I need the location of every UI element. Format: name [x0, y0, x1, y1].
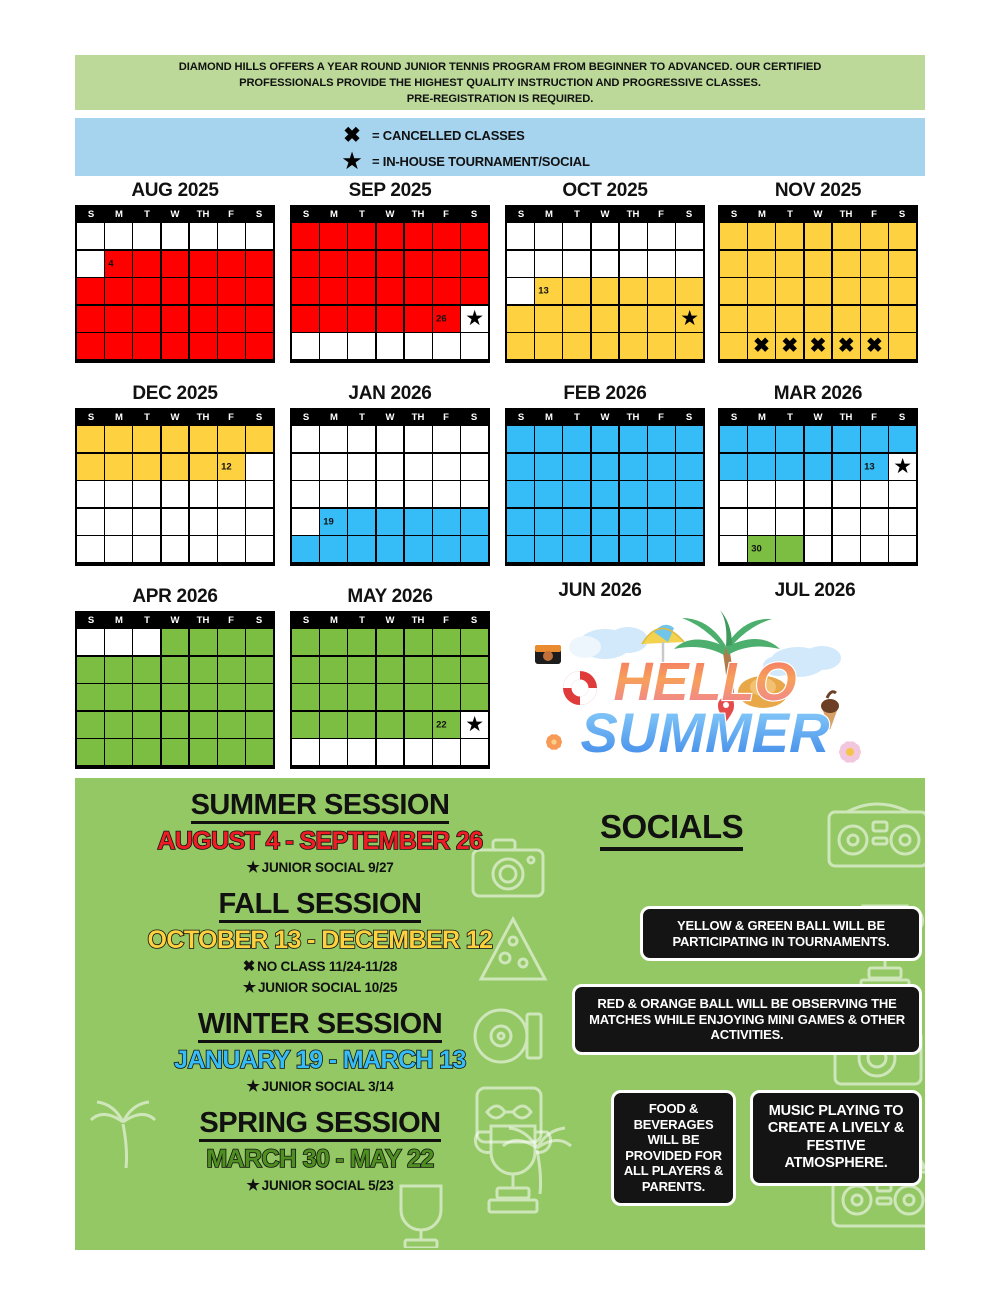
calendar-day-cell[interactable] — [507, 278, 534, 304]
calendar-day-cell[interactable] — [535, 536, 562, 562]
calendar-day-cell[interactable] — [461, 426, 488, 452]
calendar-day-cell[interactable] — [377, 481, 404, 507]
calendar-day-cell[interactable] — [292, 536, 319, 562]
calendar-day-cell[interactable] — [77, 684, 104, 710]
calendar-day-cell[interactable] — [720, 426, 747, 452]
calendar-day-cell[interactable] — [162, 454, 189, 480]
calendar-day-cell[interactable] — [833, 454, 860, 480]
calendar-day-cell[interactable] — [246, 333, 273, 359]
calendar-day-cell[interactable] — [861, 481, 888, 507]
calendar-day-cell[interactable]: 22 — [433, 712, 460, 738]
calendar-day-cell[interactable] — [320, 657, 347, 683]
calendar-day-cell[interactable] — [133, 739, 160, 765]
calendar-day-cell[interactable] — [833, 251, 860, 277]
calendar-day-cell[interactable] — [77, 223, 104, 249]
calendar-day-cell[interactable] — [433, 481, 460, 507]
calendar-day-cell[interactable] — [162, 481, 189, 507]
calendar-day-cell[interactable] — [292, 251, 319, 277]
calendar-day-cell[interactable] — [190, 712, 217, 738]
calendar-day-cell[interactable]: ★ — [676, 306, 703, 332]
calendar-day-cell[interactable] — [105, 426, 132, 452]
calendar-day-cell[interactable] — [861, 509, 888, 535]
calendar-day-cell[interactable] — [133, 712, 160, 738]
calendar-day-cell[interactable] — [105, 712, 132, 738]
calendar-day-cell[interactable] — [218, 739, 245, 765]
calendar-day-cell[interactable] — [720, 333, 747, 359]
calendar-day-cell[interactable] — [405, 481, 432, 507]
calendar-day-cell[interactable] — [218, 223, 245, 249]
calendar-day-cell[interactable] — [861, 278, 888, 304]
calendar-day-cell[interactable]: 19 — [320, 509, 347, 535]
calendar-day-cell[interactable] — [377, 278, 404, 304]
calendar-day-cell[interactable] — [292, 306, 319, 332]
calendar-day-cell[interactable] — [246, 712, 273, 738]
calendar-day-cell[interactable] — [133, 223, 160, 249]
calendar-day-cell[interactable] — [348, 712, 375, 738]
calendar-day-cell[interactable] — [592, 306, 619, 332]
calendar-day-cell[interactable] — [676, 278, 703, 304]
calendar-day-cell[interactable] — [292, 454, 319, 480]
calendar-day-cell[interactable] — [190, 481, 217, 507]
calendar-day-cell[interactable] — [507, 509, 534, 535]
calendar-day-cell[interactable] — [348, 629, 375, 655]
calendar-day-cell[interactable]: ✖ — [805, 333, 832, 359]
calendar-day-cell[interactable] — [648, 333, 675, 359]
calendar-day-cell[interactable] — [320, 536, 347, 562]
calendar-day-cell[interactable] — [320, 684, 347, 710]
calendar-day-cell[interactable] — [348, 454, 375, 480]
calendar-day-cell[interactable] — [162, 509, 189, 535]
calendar-day-cell[interactable] — [190, 739, 217, 765]
calendar-day-cell[interactable] — [162, 223, 189, 249]
calendar-day-cell[interactable]: 13 — [861, 454, 888, 480]
calendar-day-cell[interactable] — [133, 333, 160, 359]
calendar-day-cell[interactable] — [77, 657, 104, 683]
calendar-day-cell[interactable] — [405, 454, 432, 480]
calendar-day-cell[interactable] — [833, 509, 860, 535]
calendar-day-cell[interactable] — [563, 223, 590, 249]
calendar-day-cell[interactable] — [105, 306, 132, 332]
calendar-day-cell[interactable] — [748, 251, 775, 277]
calendar-day-cell[interactable] — [377, 712, 404, 738]
calendar-day-cell[interactable]: 13 — [535, 278, 562, 304]
calendar-day-cell[interactable]: 26 — [433, 306, 460, 332]
calendar-day-cell[interactable] — [507, 333, 534, 359]
calendar-day-cell[interactable] — [105, 657, 132, 683]
calendar-day-cell[interactable] — [377, 657, 404, 683]
calendar-day-cell[interactable] — [833, 278, 860, 304]
calendar-day-cell[interactable] — [292, 657, 319, 683]
calendar-day-cell[interactable] — [377, 223, 404, 249]
calendar-day-cell[interactable] — [620, 333, 647, 359]
calendar-day-cell[interactable] — [563, 333, 590, 359]
calendar-day-cell[interactable] — [77, 306, 104, 332]
calendar-day-cell[interactable] — [648, 306, 675, 332]
calendar-day-cell[interactable] — [563, 536, 590, 562]
calendar-day-cell[interactable] — [292, 509, 319, 535]
calendar-day-cell[interactable] — [833, 426, 860, 452]
calendar-day-cell[interactable] — [105, 223, 132, 249]
calendar-day-cell[interactable] — [190, 536, 217, 562]
calendar-day-cell[interactable]: ★ — [889, 454, 916, 480]
calendar-day-cell[interactable] — [246, 278, 273, 304]
calendar-day-cell[interactable] — [461, 536, 488, 562]
calendar-day-cell[interactable]: 12 — [218, 454, 245, 480]
calendar-day-cell[interactable] — [592, 278, 619, 304]
calendar-day-cell[interactable] — [433, 333, 460, 359]
calendar-day-cell[interactable] — [77, 426, 104, 452]
calendar-day-cell[interactable] — [77, 333, 104, 359]
calendar-day-cell[interactable] — [461, 629, 488, 655]
calendar-day-cell[interactable] — [246, 536, 273, 562]
calendar-day-cell[interactable] — [320, 333, 347, 359]
calendar-day-cell[interactable] — [292, 426, 319, 452]
calendar-day-cell[interactable] — [620, 454, 647, 480]
calendar-day-cell[interactable] — [776, 454, 803, 480]
calendar-day-cell[interactable] — [433, 278, 460, 304]
calendar-day-cell[interactable] — [461, 684, 488, 710]
calendar-day-cell[interactable] — [805, 306, 832, 332]
calendar-day-cell[interactable] — [648, 278, 675, 304]
calendar-day-cell[interactable] — [105, 684, 132, 710]
calendar-day-cell[interactable] — [77, 481, 104, 507]
calendar-day-cell[interactable] — [676, 426, 703, 452]
calendar-day-cell[interactable] — [405, 712, 432, 738]
calendar-day-cell[interactable] — [218, 333, 245, 359]
calendar-day-cell[interactable] — [648, 481, 675, 507]
calendar-day-cell[interactable] — [190, 223, 217, 249]
calendar-day-cell[interactable] — [320, 426, 347, 452]
calendar-day-cell[interactable] — [507, 426, 534, 452]
calendar-day-cell[interactable] — [861, 306, 888, 332]
calendar-day-cell[interactable] — [720, 481, 747, 507]
calendar-day-cell[interactable] — [348, 509, 375, 535]
calendar-day-cell[interactable] — [377, 454, 404, 480]
calendar-day-cell[interactable] — [162, 278, 189, 304]
calendar-day-cell[interactable] — [889, 333, 916, 359]
calendar-day-cell[interactable] — [648, 251, 675, 277]
calendar-day-cell[interactable] — [190, 509, 217, 535]
calendar-day-cell[interactable] — [648, 536, 675, 562]
calendar-day-cell[interactable] — [246, 426, 273, 452]
calendar-day-cell[interactable] — [748, 223, 775, 249]
calendar-day-cell[interactable] — [348, 426, 375, 452]
calendar-day-cell[interactable] — [805, 454, 832, 480]
calendar-day-cell[interactable] — [77, 712, 104, 738]
calendar-day-cell[interactable] — [246, 629, 273, 655]
calendar-day-cell[interactable] — [676, 509, 703, 535]
calendar-day-cell[interactable] — [563, 454, 590, 480]
calendar-day-cell[interactable] — [377, 509, 404, 535]
calendar-day-cell[interactable] — [563, 306, 590, 332]
calendar-day-cell[interactable] — [190, 657, 217, 683]
calendar-day-cell[interactable] — [620, 426, 647, 452]
calendar-day-cell[interactable] — [776, 278, 803, 304]
calendar-day-cell[interactable] — [190, 251, 217, 277]
calendar-day-cell[interactable] — [535, 251, 562, 277]
calendar-day-cell[interactable] — [162, 684, 189, 710]
calendar-day-cell[interactable] — [405, 739, 432, 765]
calendar-day-cell[interactable] — [246, 306, 273, 332]
calendar-day-cell[interactable] — [592, 333, 619, 359]
calendar-day-cell[interactable] — [648, 509, 675, 535]
calendar-day-cell[interactable] — [246, 739, 273, 765]
calendar-day-cell[interactable] — [720, 223, 747, 249]
calendar-day-cell[interactable] — [535, 333, 562, 359]
calendar-day-cell[interactable] — [77, 251, 104, 277]
calendar-day-cell[interactable] — [320, 629, 347, 655]
calendar-day-cell[interactable] — [133, 536, 160, 562]
calendar-day-cell[interactable]: ✖ — [861, 333, 888, 359]
calendar-day-cell[interactable] — [720, 278, 747, 304]
calendar-day-cell[interactable] — [246, 481, 273, 507]
calendar-day-cell[interactable] — [218, 712, 245, 738]
calendar-day-cell[interactable] — [592, 251, 619, 277]
calendar-day-cell[interactable] — [77, 739, 104, 765]
calendar-day-cell[interactable] — [348, 333, 375, 359]
calendar-day-cell[interactable] — [805, 426, 832, 452]
calendar-day-cell[interactable] — [620, 223, 647, 249]
calendar-day-cell[interactable] — [592, 223, 619, 249]
calendar-day-cell[interactable] — [748, 454, 775, 480]
calendar-day-cell[interactable] — [246, 251, 273, 277]
calendar-day-cell[interactable] — [246, 223, 273, 249]
calendar-day-cell[interactable] — [433, 657, 460, 683]
calendar-day-cell[interactable] — [218, 684, 245, 710]
calendar-day-cell[interactable]: ★ — [461, 306, 488, 332]
calendar-day-cell[interactable] — [190, 454, 217, 480]
calendar-day-cell[interactable] — [162, 251, 189, 277]
calendar-day-cell[interactable] — [133, 278, 160, 304]
calendar-day-cell[interactable] — [861, 536, 888, 562]
calendar-day-cell[interactable] — [535, 509, 562, 535]
calendar-day-cell[interactable] — [461, 509, 488, 535]
calendar-day-cell[interactable] — [133, 306, 160, 332]
calendar-day-cell[interactable] — [748, 426, 775, 452]
calendar-day-cell[interactable] — [748, 481, 775, 507]
calendar-day-cell[interactable] — [405, 657, 432, 683]
calendar-day-cell[interactable] — [592, 454, 619, 480]
calendar-day-cell[interactable] — [507, 536, 534, 562]
calendar-day-cell[interactable] — [348, 278, 375, 304]
calendar-day-cell[interactable] — [805, 223, 832, 249]
calendar-day-cell[interactable] — [805, 536, 832, 562]
calendar-day-cell[interactable] — [162, 739, 189, 765]
calendar-day-cell[interactable] — [292, 333, 319, 359]
calendar-day-cell[interactable] — [377, 536, 404, 562]
calendar-day-cell[interactable] — [162, 536, 189, 562]
calendar-day-cell[interactable] — [461, 454, 488, 480]
calendar-day-cell[interactable] — [405, 629, 432, 655]
calendar-day-cell[interactable] — [77, 536, 104, 562]
calendar-day-cell[interactable] — [748, 278, 775, 304]
calendar-day-cell[interactable] — [377, 306, 404, 332]
calendar-day-cell[interactable] — [433, 426, 460, 452]
calendar-day-cell[interactable] — [433, 684, 460, 710]
calendar-day-cell[interactable] — [348, 251, 375, 277]
calendar-day-cell[interactable] — [377, 684, 404, 710]
calendar-day-cell[interactable] — [507, 223, 534, 249]
calendar-day-cell[interactable] — [77, 629, 104, 655]
calendar-day-cell[interactable] — [461, 278, 488, 304]
calendar-day-cell[interactable] — [592, 426, 619, 452]
calendar-day-cell[interactable] — [461, 223, 488, 249]
calendar-day-cell[interactable] — [620, 251, 647, 277]
calendar-day-cell[interactable] — [776, 306, 803, 332]
calendar-day-cell[interactable]: ★ — [461, 712, 488, 738]
calendar-day-cell[interactable] — [348, 657, 375, 683]
calendar-day-cell[interactable] — [861, 251, 888, 277]
calendar-day-cell[interactable] — [620, 509, 647, 535]
calendar-day-cell[interactable] — [377, 251, 404, 277]
calendar-day-cell[interactable] — [405, 509, 432, 535]
calendar-day-cell[interactable] — [292, 223, 319, 249]
calendar-day-cell[interactable] — [720, 251, 747, 277]
calendar-day-cell[interactable] — [620, 306, 647, 332]
calendar-day-cell[interactable] — [648, 426, 675, 452]
calendar-day-cell[interactable] — [889, 251, 916, 277]
calendar-day-cell[interactable] — [507, 306, 534, 332]
calendar-day-cell[interactable] — [162, 629, 189, 655]
calendar-day-cell[interactable] — [133, 509, 160, 535]
calendar-day-cell[interactable] — [620, 536, 647, 562]
calendar-day-cell[interactable] — [433, 223, 460, 249]
calendar-day-cell[interactable] — [133, 629, 160, 655]
calendar-day-cell[interactable] — [162, 657, 189, 683]
calendar-day-cell[interactable] — [320, 739, 347, 765]
calendar-day-cell[interactable] — [507, 251, 534, 277]
calendar-day-cell[interactable] — [377, 333, 404, 359]
calendar-day-cell[interactable] — [833, 536, 860, 562]
calendar-day-cell[interactable] — [889, 223, 916, 249]
calendar-day-cell[interactable] — [348, 536, 375, 562]
calendar-day-cell[interactable] — [377, 739, 404, 765]
calendar-day-cell[interactable] — [218, 629, 245, 655]
calendar-day-cell[interactable] — [105, 629, 132, 655]
calendar-day-cell[interactable] — [246, 684, 273, 710]
calendar-day-cell[interactable] — [889, 509, 916, 535]
calendar-day-cell[interactable]: 4 — [105, 251, 132, 277]
calendar-day-cell[interactable] — [676, 481, 703, 507]
calendar-day-cell[interactable] — [405, 684, 432, 710]
calendar-day-cell[interactable] — [190, 333, 217, 359]
calendar-day-cell[interactable] — [535, 481, 562, 507]
calendar-day-cell[interactable] — [218, 657, 245, 683]
calendar-day-cell[interactable] — [535, 306, 562, 332]
calendar-day-cell[interactable]: ✖ — [776, 333, 803, 359]
calendar-day-cell[interactable] — [377, 426, 404, 452]
calendar-day-cell[interactable] — [348, 684, 375, 710]
calendar-day-cell[interactable] — [77, 509, 104, 535]
calendar-day-cell[interactable] — [133, 481, 160, 507]
calendar-day-cell[interactable] — [320, 481, 347, 507]
calendar-day-cell[interactable] — [889, 306, 916, 332]
calendar-day-cell[interactable] — [405, 278, 432, 304]
calendar-day-cell[interactable] — [805, 509, 832, 535]
calendar-day-cell[interactable] — [563, 426, 590, 452]
calendar-day-cell[interactable] — [105, 509, 132, 535]
calendar-day-cell[interactable] — [218, 306, 245, 332]
calendar-day-cell[interactable]: ✖ — [748, 333, 775, 359]
calendar-day-cell[interactable] — [348, 481, 375, 507]
calendar-day-cell[interactable] — [676, 223, 703, 249]
calendar-day-cell[interactable] — [889, 481, 916, 507]
calendar-day-cell[interactable] — [320, 712, 347, 738]
calendar-day-cell[interactable] — [292, 629, 319, 655]
calendar-day-cell[interactable] — [105, 333, 132, 359]
calendar-day-cell[interactable] — [133, 684, 160, 710]
calendar-day-cell[interactable] — [563, 481, 590, 507]
calendar-day-cell[interactable] — [805, 278, 832, 304]
calendar-day-cell[interactable] — [190, 684, 217, 710]
calendar-day-cell[interactable] — [320, 223, 347, 249]
calendar-day-cell[interactable] — [348, 739, 375, 765]
calendar-day-cell[interactable] — [320, 306, 347, 332]
calendar-day-cell[interactable] — [348, 223, 375, 249]
calendar-day-cell[interactable] — [320, 278, 347, 304]
calendar-day-cell[interactable] — [162, 426, 189, 452]
calendar-day-cell[interactable] — [889, 426, 916, 452]
calendar-day-cell[interactable] — [433, 509, 460, 535]
calendar-day-cell[interactable] — [461, 657, 488, 683]
calendar-day-cell[interactable] — [218, 251, 245, 277]
calendar-day-cell[interactable] — [105, 739, 132, 765]
calendar-day-cell[interactable] — [292, 739, 319, 765]
calendar-day-cell[interactable] — [648, 454, 675, 480]
calendar-day-cell[interactable] — [776, 223, 803, 249]
calendar-day-cell[interactable] — [720, 454, 747, 480]
calendar-day-cell[interactable] — [320, 251, 347, 277]
calendar-day-cell[interactable] — [246, 509, 273, 535]
calendar-day-cell[interactable] — [348, 306, 375, 332]
calendar-day-cell[interactable] — [133, 426, 160, 452]
calendar-day-cell[interactable] — [105, 536, 132, 562]
calendar-day-cell[interactable] — [461, 251, 488, 277]
calendar-day-cell[interactable] — [805, 481, 832, 507]
calendar-day-cell[interactable] — [105, 278, 132, 304]
calendar-day-cell[interactable] — [405, 251, 432, 277]
calendar-day-cell[interactable] — [433, 536, 460, 562]
calendar-day-cell[interactable] — [461, 333, 488, 359]
calendar-day-cell[interactable] — [676, 536, 703, 562]
calendar-day-cell[interactable] — [105, 454, 132, 480]
calendar-day-cell[interactable] — [461, 739, 488, 765]
calendar-day-cell[interactable] — [433, 629, 460, 655]
calendar-day-cell[interactable] — [405, 333, 432, 359]
calendar-day-cell[interactable] — [563, 509, 590, 535]
calendar-day-cell[interactable] — [592, 481, 619, 507]
calendar-day-cell[interactable] — [190, 278, 217, 304]
calendar-day-cell[interactable] — [433, 251, 460, 277]
calendar-day-cell[interactable] — [218, 426, 245, 452]
calendar-day-cell[interactable] — [535, 426, 562, 452]
calendar-day-cell[interactable]: 30 — [748, 536, 775, 562]
calendar-day-cell[interactable] — [748, 306, 775, 332]
calendar-day-cell[interactable] — [776, 536, 803, 562]
calendar-day-cell[interactable] — [776, 509, 803, 535]
calendar-day-cell[interactable] — [861, 223, 888, 249]
calendar-day-cell[interactable] — [190, 629, 217, 655]
calendar-day-cell[interactable] — [889, 278, 916, 304]
calendar-day-cell[interactable] — [292, 712, 319, 738]
calendar-day-cell[interactable] — [292, 481, 319, 507]
calendar-day-cell[interactable] — [218, 481, 245, 507]
calendar-day-cell[interactable] — [676, 454, 703, 480]
calendar-day-cell[interactable] — [405, 306, 432, 332]
calendar-day-cell[interactable] — [133, 251, 160, 277]
calendar-day-cell[interactable] — [563, 251, 590, 277]
calendar-day-cell[interactable] — [190, 426, 217, 452]
